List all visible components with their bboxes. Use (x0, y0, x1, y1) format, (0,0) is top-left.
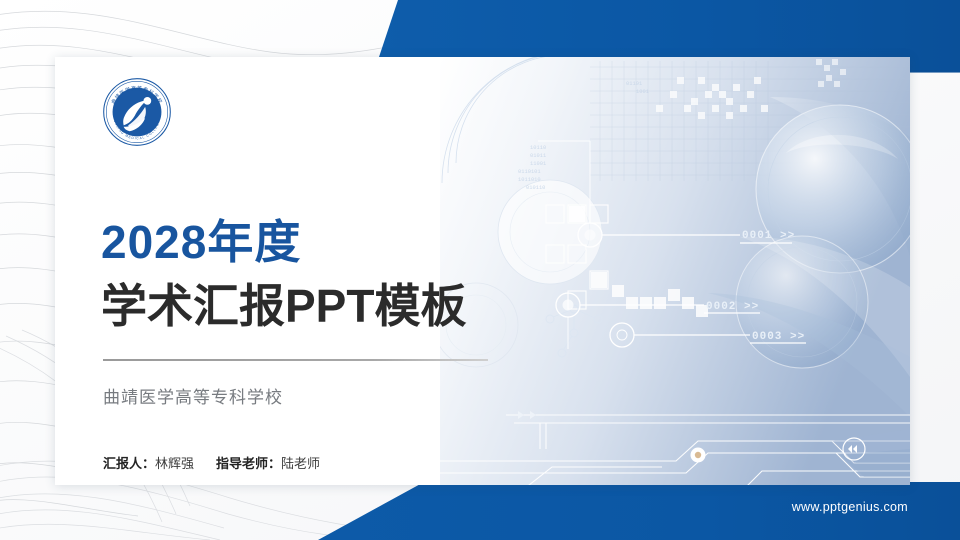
tech-node-label-0002: 0002 >> (706, 301, 759, 313)
title-block: 曲靖医学高等专科学校 QUJING MEDICAL COLLEGE 2028年度… (100, 57, 530, 485)
advisor-label: 指导老师： (216, 456, 281, 471)
advisor-name: 陆老师 (281, 456, 320, 471)
svg-text:11001: 11001 (530, 161, 546, 167)
svg-text:01011: 01011 (530, 153, 546, 159)
svg-text:1001: 1001 (636, 89, 649, 95)
tech-node-label-0003: 0003 >> (752, 331, 805, 343)
footer-url[interactable]: www.pptgenius.com (792, 500, 908, 514)
title-year: 2028年度 (101, 219, 301, 265)
credits-line: 汇报人：林辉强指导老师：陆老师 (103, 453, 320, 472)
content-card: 1011001011 110010110101 1011010010110 01… (55, 57, 910, 485)
svg-text:01101: 01101 (626, 81, 642, 87)
college-logo: 曲靖医学高等专科学校 QUJING MEDICAL COLLEGE (100, 75, 174, 149)
svg-text:10110: 10110 (530, 145, 546, 151)
title-main: 学术汇报PPT模板 (101, 283, 466, 329)
organization-name: 曲靖医学高等专科学校 (103, 383, 283, 408)
presenter-name: 林辉强 (155, 456, 194, 471)
presentation-slide: 1011001011 110010110101 1011010010110 01… (0, 0, 960, 540)
presenter-label: 汇报人： (103, 456, 155, 471)
tech-node-label-0001: 0001 >> (742, 230, 795, 242)
title-divider (103, 359, 488, 361)
